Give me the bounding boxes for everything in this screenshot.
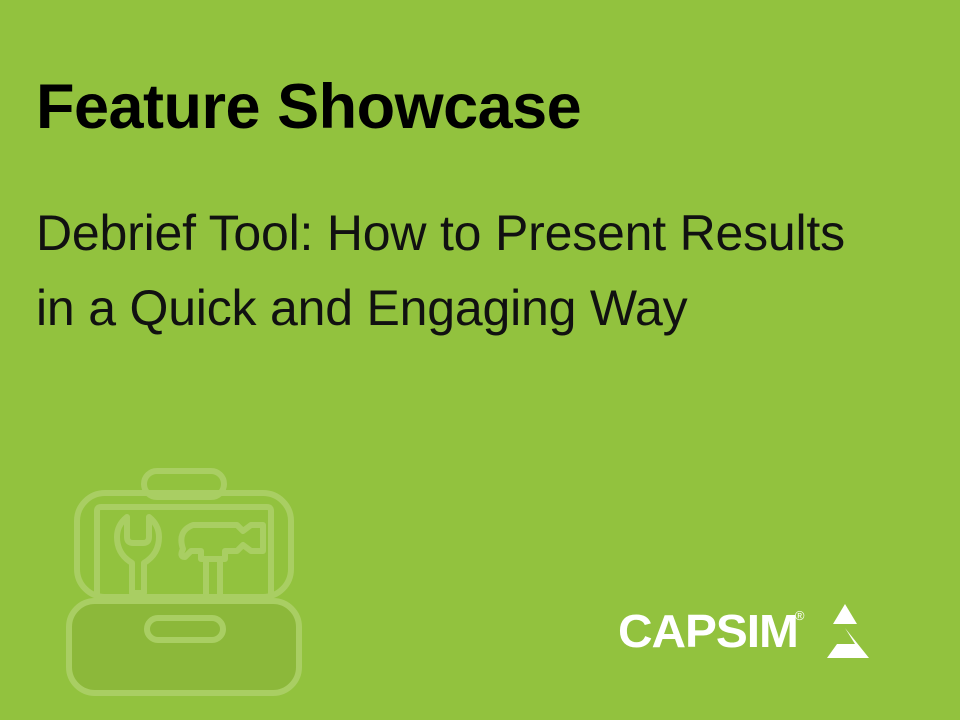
slide-canvas: Feature Showcase Debrief Tool: How to Pr… [0,0,960,720]
capsim-triangle-mark [819,602,871,660]
hammer-icon [181,525,263,559]
mark-apex-triangle [833,604,857,624]
toolbox-illustration [55,455,315,700]
toolbox-svg [55,455,315,700]
page-title: Feature Showcase [36,74,581,140]
capsim-wordmark: CAPSIM [618,608,798,654]
toolbox-body [69,601,299,693]
hammer-handle [206,559,220,595]
capsim-logo: CAPSIM ® [618,598,871,664]
mark-base-shape [827,628,869,658]
wrench-icon [117,517,159,593]
slide-subtitle: Debrief Tool: How to Present Results in … [36,196,866,346]
